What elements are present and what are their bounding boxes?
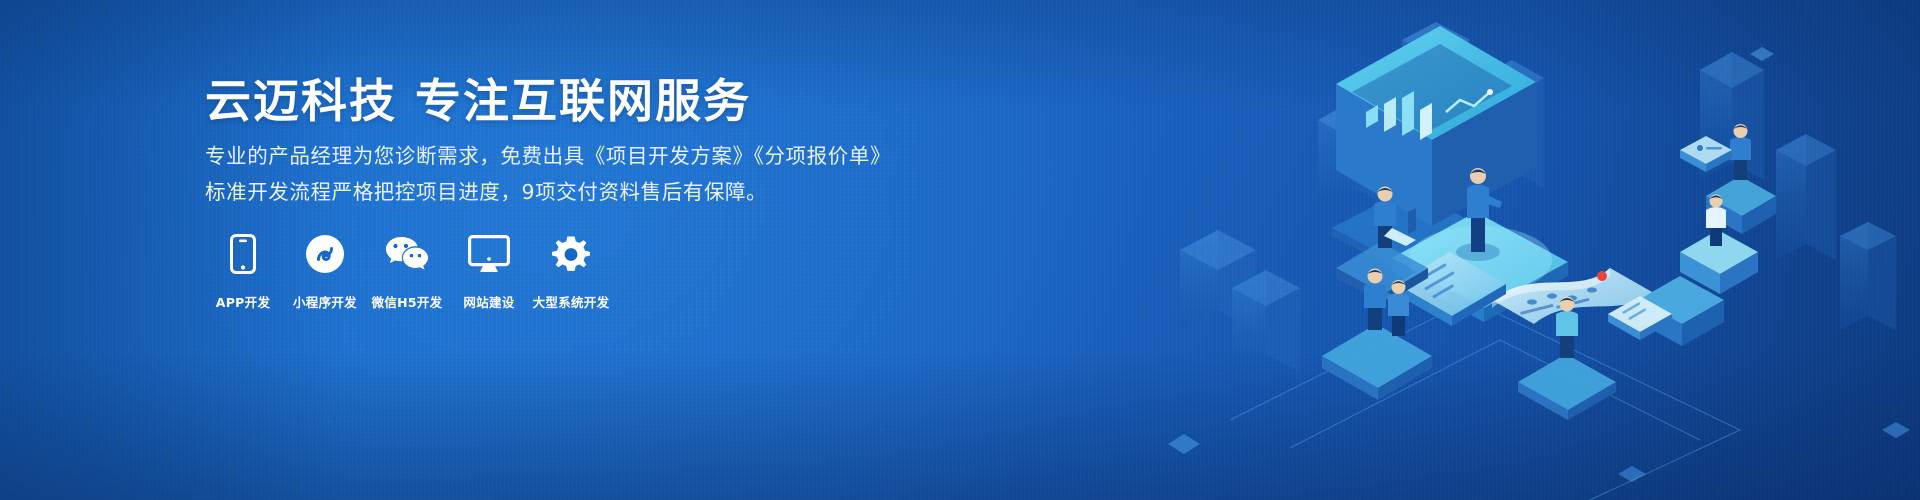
service-list: APP开发 小程序开发 bbox=[207, 232, 617, 311]
mobile-phone-icon bbox=[230, 232, 256, 276]
ribbon-alert-dot bbox=[1597, 271, 1607, 281]
banner-title: 云迈科技 专注互联网服务 bbox=[205, 74, 751, 128]
service-label: 小程序开发 bbox=[293, 292, 357, 311]
service-label: APP开发 bbox=[216, 292, 271, 311]
mini-program-icon bbox=[305, 232, 345, 276]
service-label: 大型系统开发 bbox=[533, 292, 610, 311]
service-item-website[interactable]: 网站建设 bbox=[453, 232, 525, 311]
platform-lower-right bbox=[1518, 354, 1616, 420]
isometric-illustration bbox=[1140, 0, 1920, 500]
banner-content: 云迈科技 专注互联网服务 专业的产品经理为您诊断需求，免费出具《项目开发方案》《… bbox=[205, 0, 965, 500]
banner-subtitle-line-2: 标准开发流程严格把控项目进度，9项交付资料售后有保障。 bbox=[205, 182, 767, 203]
platform-lower-left bbox=[1322, 324, 1432, 400]
wechat-icon bbox=[385, 232, 429, 276]
service-label: 网站建设 bbox=[463, 292, 514, 311]
hero-banner: 云迈科技 专注互联网服务 专业的产品经理为您诊断需求，免费出具《项目开发方案》《… bbox=[0, 0, 1920, 500]
service-item-wechat-h5[interactable]: 微信H5开发 bbox=[371, 232, 443, 311]
service-item-large-system[interactable]: 大型系统开发 bbox=[535, 232, 607, 311]
monitor-icon bbox=[468, 232, 510, 276]
service-label: 微信H5开发 bbox=[372, 292, 443, 311]
gear-icon bbox=[550, 232, 592, 276]
service-item-app[interactable]: APP开发 bbox=[207, 232, 279, 311]
banner-subtitle-line-1: 专业的产品经理为您诊断需求，免费出具《项目开发方案》《分项报价单》 bbox=[205, 146, 891, 167]
service-item-mini-program[interactable]: 小程序开发 bbox=[289, 232, 361, 311]
